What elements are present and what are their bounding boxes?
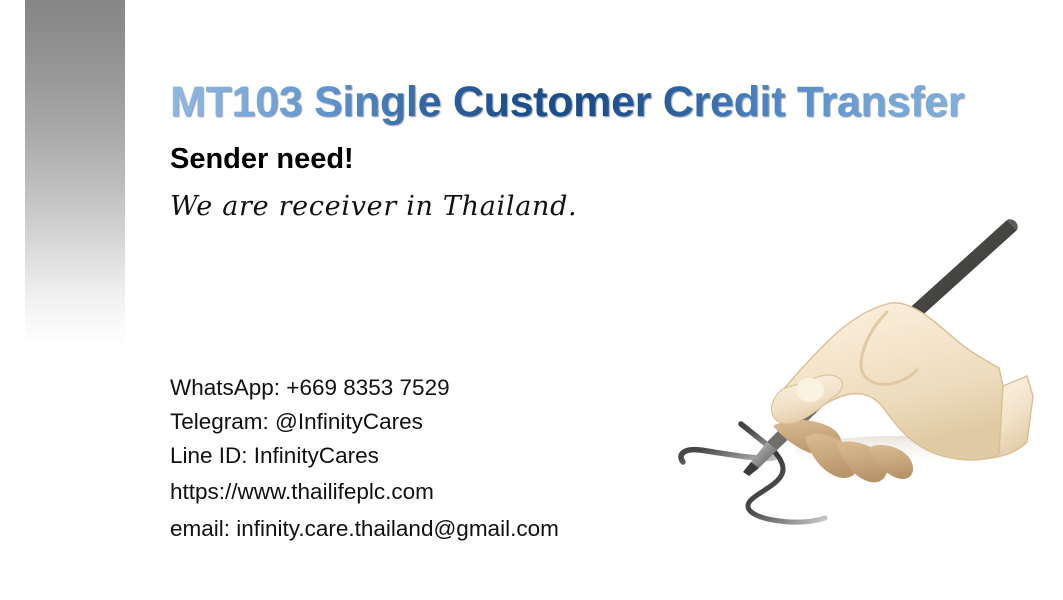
contact-line-email[interactable]: email: infinity.care.thailand@gmail.com	[170, 510, 559, 547]
slide-canvas: MT103 Single Customer Credit Transfer Se…	[0, 0, 1063, 600]
headline-text: Sender need!	[170, 143, 354, 176]
thumb-knuckle-highlight	[796, 378, 824, 402]
contact-line-telegram: Telegram: @InfinityCares	[170, 405, 559, 439]
subtitle-script-text: We are receiver in Thailand.	[170, 191, 577, 222]
contact-details-block: WhatsApp: +669 8353 7529 Telegram: @Infi…	[170, 371, 559, 547]
page-title: MT103 Single Customer Credit Transfer	[170, 78, 964, 127]
contact-line-website[interactable]: https://www.thailifeplc.com	[170, 473, 559, 510]
hand-writing-with-pen-icon	[655, 200, 1055, 540]
contact-line-whatsapp: WhatsApp: +669 8353 7529	[170, 371, 559, 405]
contact-line-lineid: Line ID: InfinityCares	[170, 439, 559, 473]
left-gradient-bar	[25, 0, 125, 348]
